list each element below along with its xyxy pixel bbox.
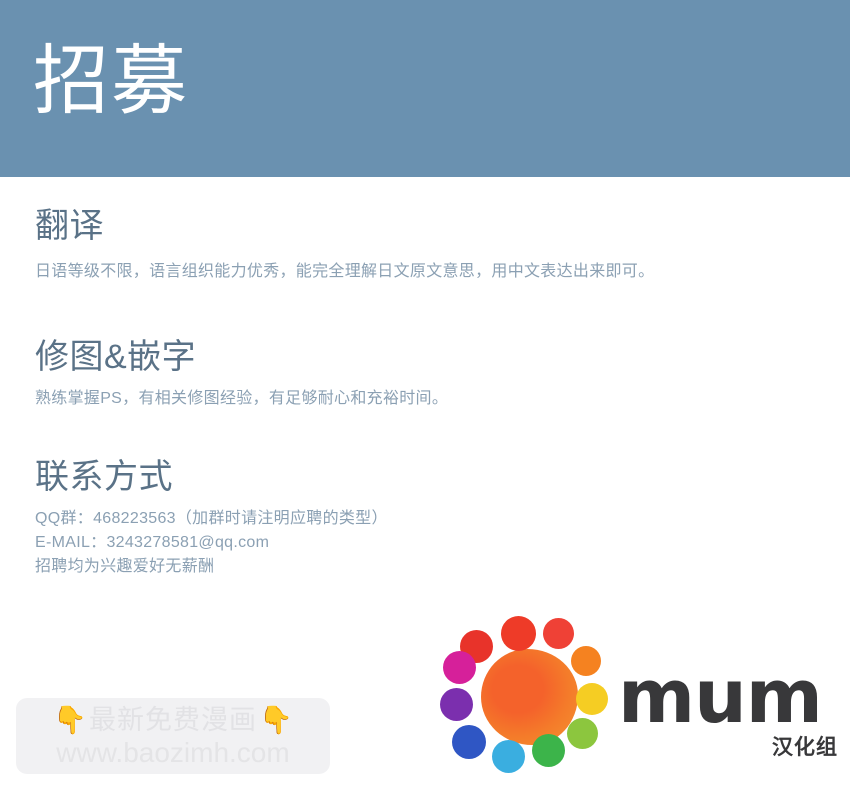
dot-yellow — [576, 683, 608, 715]
watermark-label: 最新免费漫画 — [89, 704, 257, 736]
logo-wordmark-group: mum 汉化组 — [618, 660, 840, 760]
dot-red-top — [501, 616, 536, 651]
dot-green — [532, 734, 565, 767]
dot-light-blue — [492, 740, 525, 773]
section-title-translate: 翻译 — [35, 204, 825, 248]
section-body-retouch: 熟练掌握PS，有相关修图经验，有足够耐心和充裕时间。 — [35, 387, 825, 411]
dot-purple — [440, 688, 473, 721]
dot-yellow-green — [567, 718, 598, 749]
section-title-contact: 联系方式 — [35, 455, 825, 499]
pointing-down-icon-right: 👇 — [259, 704, 293, 736]
section-contact: 联系方式 QQ群：468223563（加群时请注明应聘的类型） E-MAIL：3… — [35, 455, 825, 579]
logo-mark — [440, 612, 618, 782]
group-logo: mum 汉化组 — [440, 612, 840, 794]
header-banner: 招募 — [0, 0, 850, 177]
section-body-translate: 日语等级不限，语言组织能力优秀，能完全理解日文原文意思，用中文表达出来即可。 — [35, 260, 825, 284]
pointing-down-icon-left: 👇 — [53, 704, 87, 736]
section-title-retouch: 修图&嵌字 — [35, 335, 825, 379]
contact-line-email: E-MAIL：3243278581@qq.com — [35, 531, 825, 555]
watermark-box[interactable]: 👇 最新免费漫画 👇 www.baozimh.com — [16, 698, 330, 774]
section-translate: 翻译 日语等级不限，语言组织能力优秀，能完全理解日文原文意思，用中文表达出来即可… — [35, 204, 825, 284]
dot-red-top-right — [543, 618, 574, 649]
watermark-url[interactable]: www.baozimh.com — [16, 736, 330, 770]
dot-orange — [571, 646, 601, 676]
watermark-headline-row: 👇 最新免费漫画 👇 — [16, 704, 330, 736]
logo-center-blob — [481, 649, 578, 745]
contact-line-note: 招聘均为兴趣爱好无薪酬 — [35, 555, 825, 579]
contact-line-qq: QQ群：468223563（加群时请注明应聘的类型） — [35, 507, 825, 531]
contact-lines: QQ群：468223563（加群时请注明应聘的类型） E-MAIL：324327… — [35, 507, 825, 579]
dot-magenta — [443, 651, 476, 684]
logo-wordmark: mum — [618, 660, 840, 734]
dot-blue — [452, 725, 486, 759]
page-title: 招募 — [33, 38, 189, 126]
section-retouch: 修图&嵌字 熟练掌握PS，有相关修图经验，有足够耐心和充裕时间。 — [35, 335, 825, 411]
